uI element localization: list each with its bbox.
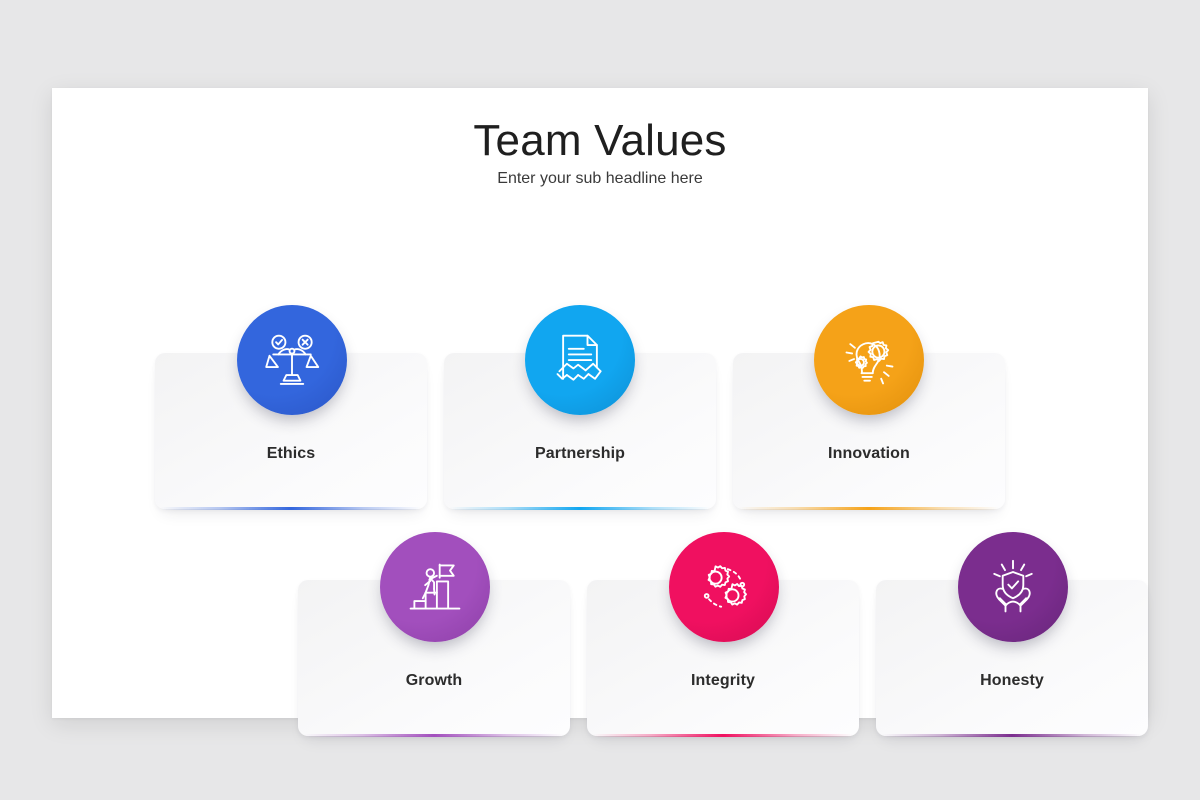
- card-accent-bar: [161, 507, 421, 510]
- document-handshake-icon: [550, 330, 610, 390]
- value-icon-circle-honesty[interactable]: [958, 532, 1068, 642]
- value-icon-circle-ethics[interactable]: [237, 305, 347, 415]
- value-label-partnership: Partnership: [444, 445, 716, 463]
- value-label-honesty: Honesty: [876, 672, 1148, 690]
- person-stairs-flag-icon: [405, 557, 465, 617]
- two-gears-icon: [694, 557, 754, 617]
- scales-balance-icon: [262, 330, 322, 390]
- value-label-innovation: Innovation: [733, 445, 1005, 463]
- slide-surface: Team Values Enter your sub headline here…: [52, 88, 1148, 718]
- card-accent-bar: [304, 734, 564, 737]
- lightbulb-gears-icon: [839, 330, 899, 390]
- value-icon-circle-growth[interactable]: [380, 532, 490, 642]
- page-subtitle: Enter your sub headline here: [52, 170, 1148, 188]
- value-label-integrity: Integrity: [587, 672, 859, 690]
- value-icon-circle-partnership[interactable]: [525, 305, 635, 415]
- value-label-ethics: Ethics: [155, 445, 427, 463]
- card-accent-bar: [593, 734, 853, 737]
- value-label-growth: Growth: [298, 672, 570, 690]
- card-accent-bar: [450, 507, 710, 510]
- value-icon-circle-integrity[interactable]: [669, 532, 779, 642]
- slide-canvas: Team Values Enter your sub headline here…: [0, 0, 1200, 800]
- hands-shield-check-icon: [983, 557, 1043, 617]
- card-accent-bar: [739, 507, 999, 510]
- card-accent-bar: [882, 734, 1142, 737]
- page-title: Team Values: [52, 118, 1148, 164]
- value-icon-circle-innovation[interactable]: [814, 305, 924, 415]
